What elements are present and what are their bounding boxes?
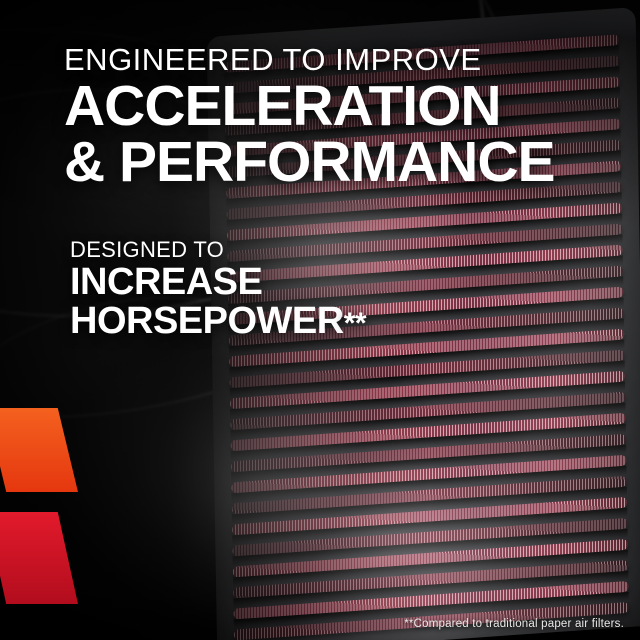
- headline: ACCELERATION & PERFORMANCE: [64, 79, 624, 191]
- headline-block: ENGINEERED TO IMPROVE ACCELERATION & PER…: [64, 44, 624, 191]
- ad-banner: ENGINEERED TO IMPROVE ACCELERATION & PER…: [0, 0, 640, 640]
- headline-eyebrow: ENGINEERED TO IMPROVE: [64, 44, 624, 75]
- subheadline-line-1: INCREASE: [70, 261, 262, 303]
- subheadline-line-2: HORSEPOWER**: [70, 302, 590, 341]
- footnote-text: **Compared to traditional paper air filt…: [404, 618, 624, 630]
- subheadline-eyebrow: DESIGNED TO: [70, 238, 590, 261]
- subheadline-line-2-text: HORSEPOWER: [70, 300, 344, 342]
- headline-line-1: ACCELERATION: [64, 74, 501, 138]
- subheadline-block: DESIGNED TO INCREASE HORSEPOWER**: [70, 238, 590, 341]
- headline-line-2: & PERFORMANCE: [64, 135, 624, 191]
- footnote-marker: **: [344, 307, 366, 340]
- subheadline: INCREASE HORSEPOWER**: [70, 263, 590, 341]
